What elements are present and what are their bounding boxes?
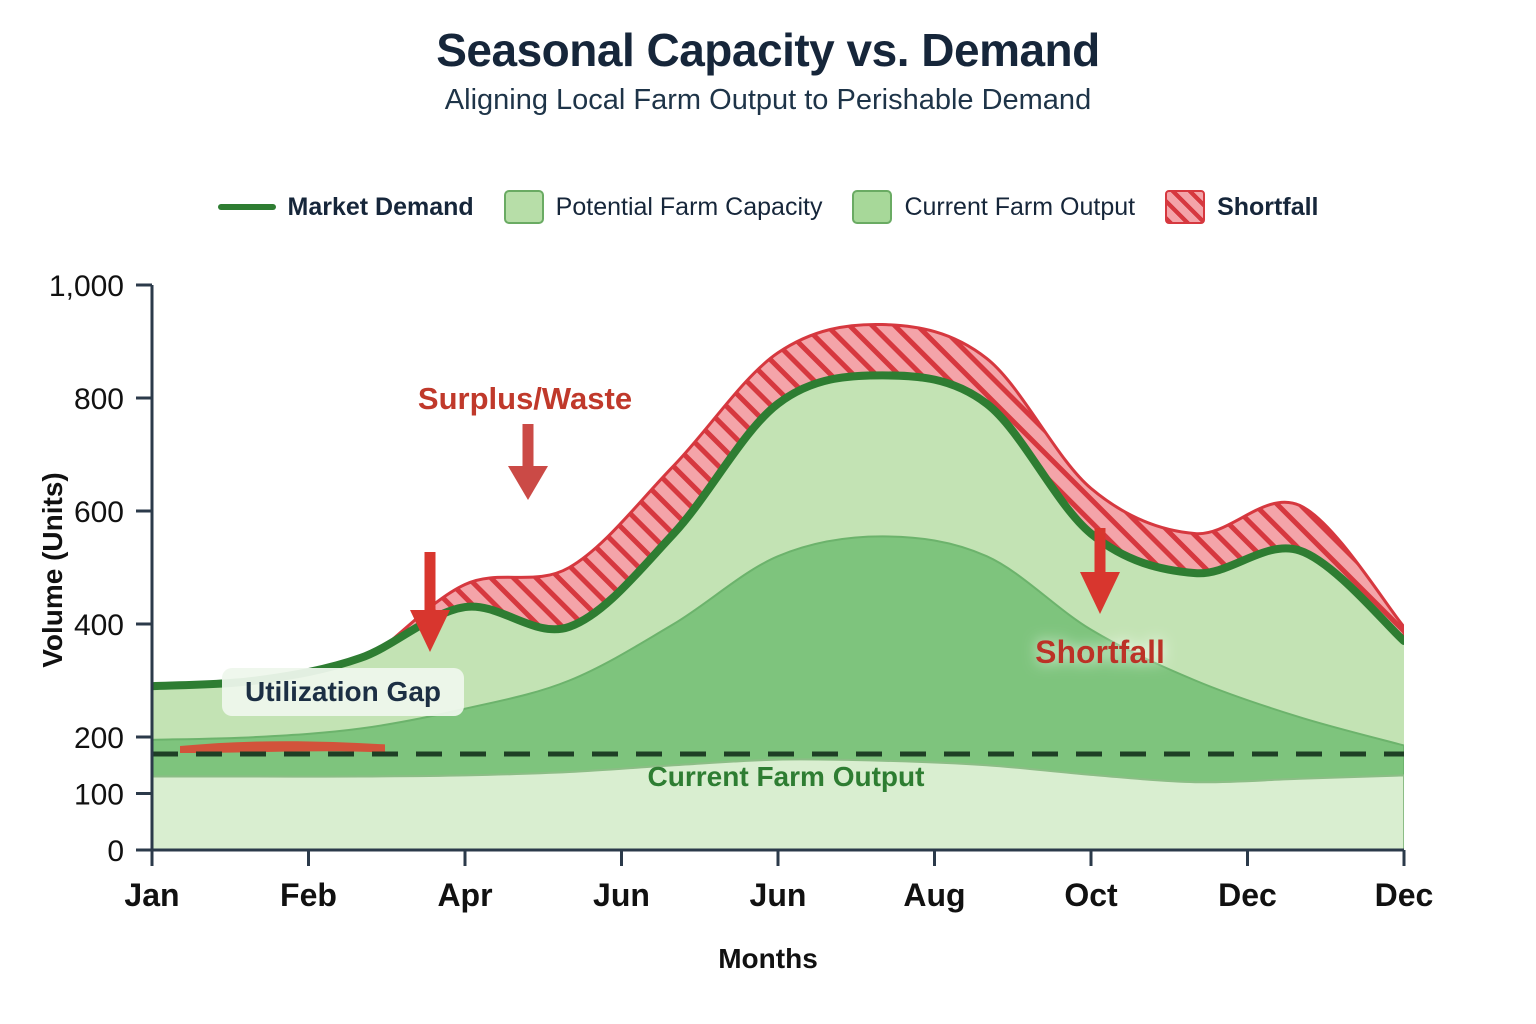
annotation-surplus-waste: Surplus/Waste xyxy=(418,381,632,416)
x-axis-title: Months xyxy=(718,943,818,974)
y-tick-label: 800 xyxy=(74,383,124,416)
utilization-gap-label: Utilization Gap xyxy=(245,676,441,707)
annotation-shortfall: Shortfall xyxy=(1035,634,1165,670)
x-tick-label: Dec xyxy=(1218,877,1277,913)
chart-page: Seasonal Capacity vs. Demand Aligning Lo… xyxy=(0,0,1536,1024)
y-tick-label: 100 xyxy=(74,779,124,812)
surplus-waste-arrow-icon xyxy=(508,424,548,500)
x-tick-label: Feb xyxy=(280,877,337,913)
y-tick-label: 400 xyxy=(74,609,124,642)
y-tick-label: 600 xyxy=(74,496,124,529)
x-tick-label: Apr xyxy=(437,877,492,913)
x-tick-label: Aug xyxy=(903,877,965,913)
y-tick-label: 200 xyxy=(74,722,124,755)
x-tick-label: Jun xyxy=(750,877,807,913)
y-axis-title: Volume (Units) xyxy=(37,472,68,667)
x-tick-label: Dec xyxy=(1375,877,1434,913)
utilization-gap-badge: Utilization Gap xyxy=(222,668,464,716)
x-tick-group: JanFebAprJunJunAugOctDecDec xyxy=(124,850,1433,913)
x-tick-label: Jan xyxy=(124,877,179,913)
y-tick-label: 0 xyxy=(107,835,124,868)
x-tick-label: Jun xyxy=(593,877,650,913)
x-tick-label: Oct xyxy=(1064,877,1118,913)
annotation-current-farm-output: Current Farm Output xyxy=(648,761,925,792)
plot-area: 01002004006008001,000 JanFebAprJunJunAug… xyxy=(0,0,1536,1024)
y-tick-label: 1,000 xyxy=(49,270,124,303)
chart-svg: 01002004006008001,000 JanFebAprJunJunAug… xyxy=(0,0,1536,1024)
